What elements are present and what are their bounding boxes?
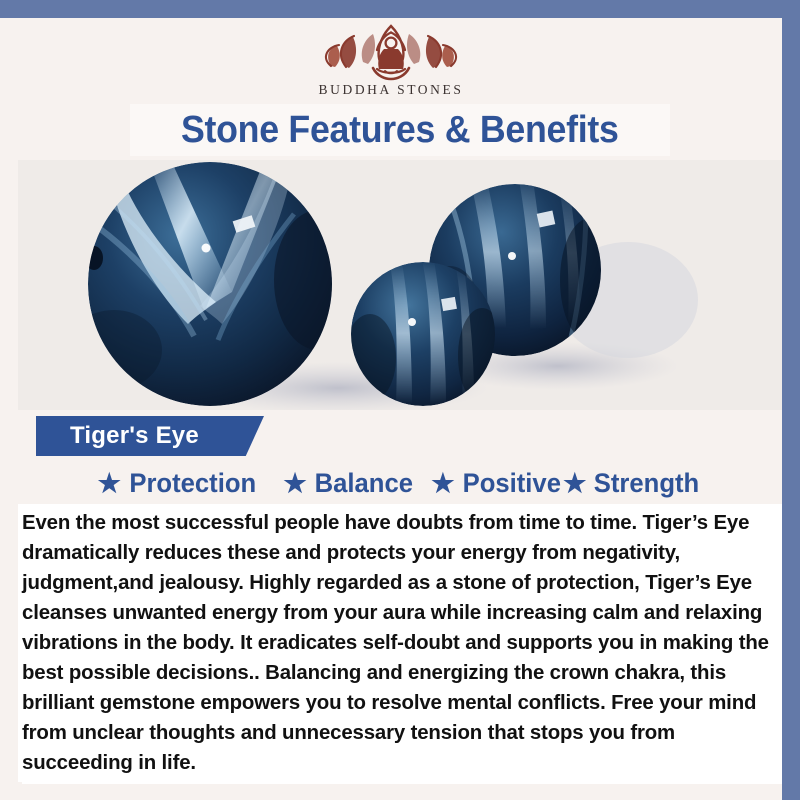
gemstone-illustration xyxy=(18,160,782,410)
benefit-item-protection: ★ Protection xyxy=(98,468,260,499)
description-block: Even the most successful people have dou… xyxy=(22,506,782,784)
brand-logo: BUDDHA STONES xyxy=(0,18,782,110)
description-text: Even the most successful people have dou… xyxy=(22,508,782,778)
star-icon: ★ xyxy=(563,470,586,496)
benefit-label: Protection xyxy=(129,468,256,499)
star-icon: ★ xyxy=(431,470,454,496)
poster-root: BUDDHA STONES Stone Features & Benefits xyxy=(0,0,800,800)
benefit-item-strength: ★ Strength xyxy=(563,468,702,499)
benefit-label: Positive xyxy=(462,468,560,499)
benefit-label: Balance xyxy=(314,468,412,499)
star-icon: ★ xyxy=(283,470,306,496)
stone-name-ribbon: Tiger's Eye xyxy=(36,416,264,456)
page-title: Stone Features & Benefits xyxy=(181,109,619,152)
benefits-row: ★ Protection ★ Balance ★ Positive ★ Stre… xyxy=(18,464,782,502)
blue-tigers-eye-spheres-photo xyxy=(18,160,782,410)
title-banner: Stone Features & Benefits xyxy=(130,104,670,156)
benefit-label: Strength xyxy=(594,468,699,499)
stone-name-label: Tiger's Eye xyxy=(36,422,199,450)
star-icon: ★ xyxy=(98,470,121,496)
benefit-item-positive: ★ Positive xyxy=(431,468,563,499)
frame-band-right xyxy=(782,0,800,760)
benefit-item-balance: ★ Balance xyxy=(283,468,415,499)
brand-wordmark: BUDDHA STONES xyxy=(319,82,464,98)
frame-band-top xyxy=(0,0,800,18)
lotus-meditation-figure-icon xyxy=(315,22,467,84)
